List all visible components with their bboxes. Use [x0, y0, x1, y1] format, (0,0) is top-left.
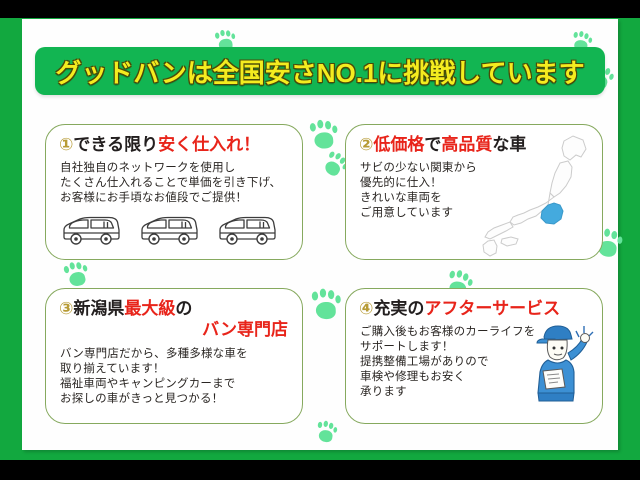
panel-3-title: ③新潟県最大級の バン専門店	[59, 298, 294, 340]
panel-2-title-black-1: で	[424, 135, 441, 154]
feature-panel-2: ②低価格で高品質な車 サビの少ない関東から 優先的に仕入！ きれいな車両を ご用…	[345, 124, 603, 260]
panel-4-number: ④	[359, 299, 373, 318]
van-icon	[216, 213, 278, 247]
panel-3-title-black-1: 新潟県	[73, 299, 124, 318]
panel-1-title: ①できる限り安く仕入れ！	[59, 134, 294, 155]
van-illustration-group	[60, 213, 278, 247]
panel-1-number: ①	[59, 135, 73, 154]
panel-1-title-red: 安く仕入れ！	[158, 135, 260, 154]
panel-3-number: ③	[59, 299, 73, 318]
van-icon	[138, 213, 200, 247]
panel-2-body: サビの少ない関東から 優先的に仕入！ きれいな車両を ご用意しています	[360, 161, 477, 221]
panel-4-body: ご購入後もお客様のカーライフを サポートします！ 提携整備工場がありので 車検や…	[360, 325, 536, 400]
panel-4-title: ④充実のアフターサービス	[359, 298, 594, 319]
feature-panel-1: ①できる限り安く仕入れ！ 自社独自のネットワークを使用し たくさん仕入れることで…	[45, 124, 303, 260]
panel-2-title-red-1: 低価格	[373, 135, 424, 154]
header-banner: グッドバンは全国安さNO.1に挑戦しています	[35, 47, 605, 95]
panel-3-body: バン専門店だから、多種多様な車を 取り揃えています！ 福祉車両やキャンピングカー…	[60, 347, 248, 407]
japan-map-icon	[480, 131, 598, 257]
banner-image: グッドバンは全国安さNO.1に挑戦しています ①できる限り安く仕入れ！ 自社独自…	[0, 0, 640, 480]
panel-4-title-red: アフターサービス	[424, 299, 560, 318]
panel-3-title-red: 最大級	[124, 299, 175, 318]
van-icon	[60, 213, 122, 247]
panel-2-number: ②	[359, 135, 373, 154]
panel-4-title-black: 充実の	[373, 299, 424, 318]
panel-3-title-line2: バン専門店	[59, 319, 294, 340]
panel-1-body: 自社独自のネットワークを使用し たくさん仕入れることで単価を引き下げ、 お客様に…	[60, 161, 281, 206]
mechanic-illustration	[524, 317, 596, 403]
panel-3-title-black-2: の	[175, 299, 192, 318]
panel-1-title-black: できる限り	[73, 135, 158, 154]
feature-panel-4: ④充実のアフターサービス ご購入後もお客様のカーライフを サポートします！ 提携…	[345, 288, 603, 424]
feature-panel-3: ③新潟県最大級の バン専門店 バン専門店だから、多種多様な車を 取り揃えています…	[45, 288, 303, 424]
header-title: グッドバンは全国安さNO.1に挑戦しています	[55, 53, 584, 90]
